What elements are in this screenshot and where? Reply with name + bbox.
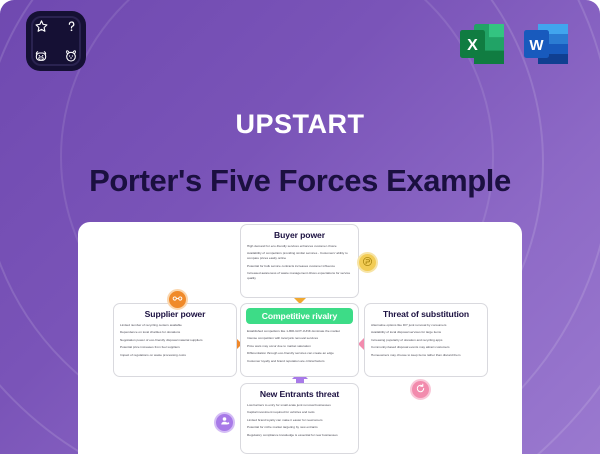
list-item: High demand for eco-friendly services en…	[247, 244, 352, 249]
list-item: Limited brand loyalty can make it easier…	[247, 418, 352, 423]
recycle-icon	[415, 383, 426, 397]
list-item: Low barriers to entry for small-scale ju…	[247, 403, 352, 408]
force-box-buyer-power[interactable]: Buyer power High demand for eco-friendly…	[240, 224, 359, 298]
dog-icon	[60, 45, 82, 67]
list-item: Intense competition with local junk remo…	[247, 336, 352, 341]
list-item: Potential price increases from fuel supp…	[120, 345, 230, 350]
box-items: Low barriers to entry for small-scale ju…	[247, 403, 352, 437]
list-item: Limited number of recycling centers avai…	[120, 323, 230, 328]
list-item: Increasing popularity of donation and re…	[371, 338, 481, 343]
svg-text:W: W	[529, 37, 544, 54]
page-title: Porter's Five Forces Example	[0, 163, 600, 199]
link-icon	[172, 293, 183, 307]
slide-canvas: X W UPSTART Porter's Five Forces Example…	[0, 0, 600, 454]
box-items: Alternative options like DIY junk remova…	[371, 323, 481, 357]
list-item: Customer loyalty and brand reputation ar…	[247, 359, 352, 364]
buyer-badge[interactable]	[357, 252, 378, 273]
list-item: Availability of local disposal services …	[371, 330, 481, 335]
excel-icon[interactable]: X	[456, 18, 508, 70]
substitution-badge[interactable]	[410, 379, 431, 400]
list-item: Increased awareness of waste management …	[247, 271, 352, 281]
list-item: Homeowners may choose to keep items rath…	[371, 353, 481, 358]
list-item: Differentiation through eco-friendly ser…	[247, 351, 352, 356]
list-item: Potential for bulk service contracts inc…	[247, 264, 352, 269]
box-items: Established competitors like 1-800-GOT-J…	[247, 329, 352, 363]
list-item: Dependence on local charities for donati…	[120, 330, 230, 335]
list-item: Alternative options like DIY junk remova…	[371, 323, 481, 328]
star-icon	[30, 15, 52, 37]
coin-icon	[362, 256, 373, 270]
box-title: Supplier power	[120, 309, 230, 319]
brand-name: UPSTART	[0, 109, 600, 140]
box-title: Buyer power	[247, 230, 352, 240]
force-box-supplier-power[interactable]: Supplier power Limited number of recycli…	[113, 303, 237, 377]
entrants-badge[interactable]	[214, 412, 235, 433]
list-item: Negotiation power of eco-friendly dispos…	[120, 338, 230, 343]
app-logo[interactable]	[26, 11, 86, 71]
list-item: Capital investment required for vehicles…	[247, 410, 352, 415]
svg-text:X: X	[467, 37, 478, 54]
force-box-competitive-rivalry[interactable]: Competitive rivalry Established competit…	[240, 303, 359, 377]
box-title: New Entrants threat	[247, 389, 352, 399]
list-item: Availability of competitors providing si…	[247, 251, 352, 261]
list-item: Impact of regulations on waste processin…	[120, 353, 230, 358]
box-title: Competitive rivalry	[246, 308, 353, 324]
word-icon[interactable]: W	[520, 18, 572, 70]
question-mark-icon	[60, 15, 82, 37]
list-item: Established competitors like 1-800-GOT-J…	[247, 329, 352, 334]
list-item: Price wars may occur due to market satur…	[247, 344, 352, 349]
user-icon	[219, 415, 231, 430]
force-box-threat-of-substitution[interactable]: Threat of substitution Alternative optio…	[364, 303, 488, 377]
box-items: Limited number of recycling centers avai…	[120, 323, 230, 357]
list-item: Regulatory compliance knowledge is essen…	[247, 433, 352, 438]
list-item: Community-based disposal events may attr…	[371, 345, 481, 350]
box-title: Threat of substitution	[371, 309, 481, 319]
box-items: High demand for eco-friendly services en…	[247, 244, 352, 280]
supplier-badge[interactable]	[167, 289, 188, 310]
list-item: Potential for niche market targeting by …	[247, 425, 352, 430]
cow-icon	[30, 45, 52, 67]
force-box-new-entrants-threat[interactable]: New Entrants threat Low barriers to entr…	[240, 383, 359, 454]
